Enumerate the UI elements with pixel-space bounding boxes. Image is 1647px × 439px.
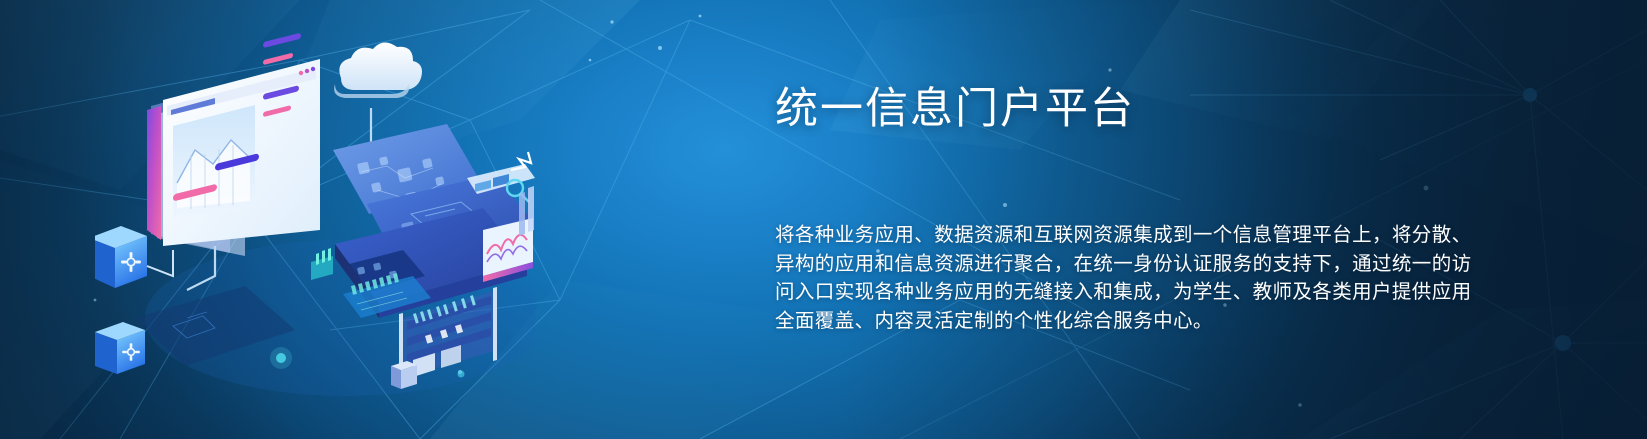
page-title: 统一信息门户平台: [775, 86, 1475, 133]
hero-description: 将各种业务应用、数据资源和互联网资源集成到一个信息管理平台上，将分散、 异构的应…: [775, 221, 1475, 335]
glow-dot-small: [458, 371, 465, 378]
description-line: 问入口实现各种业务应用的无缝接入和集成，为学生、教师及各类用户提供应用: [775, 278, 1475, 307]
glow-dot-halo: [270, 347, 292, 369]
cloud-icon: [334, 42, 422, 146]
hero-banner: 统一信息门户平台 将各种业务应用、数据资源和互联网资源集成到一个信息管理平台上，…: [0, 0, 1647, 439]
description-line: 全面覆盖、内容灵活定制的个性化综合服务中心。: [775, 307, 1475, 336]
hero-copy: 统一信息门户平台 将各种业务应用、数据资源和互联网资源集成到一个信息管理平台上，…: [775, 86, 1475, 335]
description-line: 将各种业务应用、数据资源和互联网资源集成到一个信息管理平台上，将分散、: [775, 221, 1475, 250]
gear-cube-icon-secondary: [95, 322, 145, 374]
platform-illustration: [95, 18, 535, 418]
description-line: 异构的应用和信息资源进行聚合，在统一身份认证服务的支持下，通过统一的访: [775, 250, 1475, 279]
